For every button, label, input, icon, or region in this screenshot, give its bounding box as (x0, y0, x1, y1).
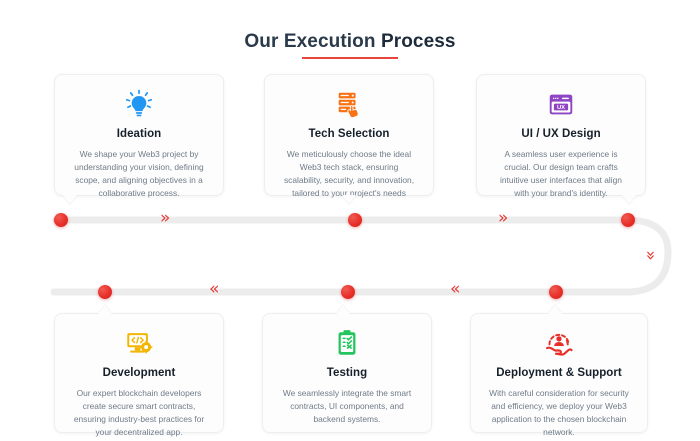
card-description: We meticulously choose the ideal Web3 te… (277, 148, 421, 200)
card-description: Our expert blockchain developers create … (67, 387, 211, 439)
arrow-down-1-icon: » (642, 250, 659, 258)
title-underline (302, 57, 398, 59)
card-tail (622, 195, 636, 204)
card-description: A seamless user experience is crucial. O… (489, 148, 633, 200)
card-description: We shape your Web3 project by understand… (67, 148, 211, 200)
page-title-part1: Our Execution (244, 31, 381, 52)
card-tail (342, 195, 356, 204)
card-tail (63, 195, 77, 204)
card-title: Testing (275, 367, 419, 379)
code-gear-icon (67, 326, 211, 360)
step-card-ui-ux-design[interactable]: UX UI / UX Design A seamless user experi… (476, 74, 646, 196)
milestone-6-dot (549, 285, 563, 299)
milestone-1-dot (54, 213, 68, 227)
arrow-right-2-icon: » (498, 210, 506, 227)
card-description: With careful consideration for security … (483, 387, 635, 439)
card-tail (548, 305, 562, 314)
clipboard-check-icon (275, 326, 419, 360)
card-description: We seamlessly integrate the smart contra… (275, 387, 419, 426)
card-title: Development (67, 367, 211, 379)
step-card-development[interactable]: Development Our expert blockchain develo… (54, 313, 224, 433)
page-title: Our Execution Process (244, 30, 455, 54)
step-card-testing[interactable]: Testing We seamlessly integrate the smar… (262, 313, 432, 433)
execution-process-page: Our Execution Process » » » « « (0, 0, 700, 441)
card-title: Tech Selection (277, 128, 421, 140)
card-tail (98, 305, 112, 314)
milestone-3-dot (621, 213, 635, 227)
lightbulb-icon (67, 87, 211, 121)
page-title-wrapper: Our Execution Process (0, 30, 700, 54)
card-title: Ideation (67, 128, 211, 140)
milestone-4-dot (98, 285, 112, 299)
hand-support-icon (483, 326, 635, 360)
server-stack-hand-icon (277, 87, 421, 121)
step-card-ideation[interactable]: Ideation We shape your Web3 project by u… (54, 74, 224, 196)
step-card-deployment-support[interactable]: Deployment & Support With careful consid… (470, 313, 648, 433)
arrow-right-1-icon: » (160, 210, 168, 227)
arrow-left-1-icon: « (209, 281, 217, 298)
card-title: Deployment & Support (483, 367, 635, 379)
milestone-2-dot (348, 213, 362, 227)
browser-ux-icon: UX (489, 87, 633, 121)
svg-text:UX: UX (557, 105, 565, 111)
page-title-part2: Process (381, 31, 456, 52)
arrow-left-2-icon: « (450, 281, 458, 298)
card-tail (336, 305, 350, 314)
milestone-5-dot (341, 285, 355, 299)
step-card-tech-selection[interactable]: Tech Selection We meticulously choose th… (264, 74, 434, 196)
card-title: UI / UX Design (489, 128, 633, 140)
